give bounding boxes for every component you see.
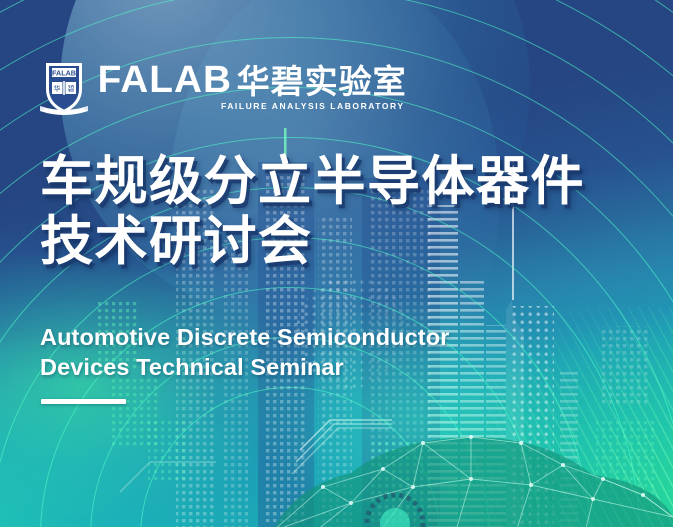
title-line-1: 车规级分立半导体器件 xyxy=(40,152,640,212)
logo-text-block: FALAB 华碧实验室 FAILURE ANALYSIS LABORATORY xyxy=(99,63,407,111)
subtitle-line-1: Automotive Discrete Semiconductor xyxy=(40,322,560,352)
subtitle-line-2: Devices Technical Seminar xyxy=(40,352,560,382)
logo-wordmark: FALAB xyxy=(98,63,232,98)
logo-wordmark-cn: 华碧实验室 xyxy=(237,65,407,98)
title-line-2: 技术研讨会 xyxy=(40,212,640,272)
subtitle: Automotive Discrete Semiconductor Device… xyxy=(40,322,560,382)
page-title: 车规级分立半导体器件 技术研讨会 xyxy=(40,152,640,272)
low-poly-wireframe-car xyxy=(263,391,673,527)
title-divider xyxy=(41,399,126,404)
seminar-poster: FALAB 华 碧 FALAB 华碧实验室 FAILURE ANALYSIS L… xyxy=(0,0,673,527)
svg-text:华: 华 xyxy=(54,84,61,93)
svg-text:碧: 碧 xyxy=(68,84,75,93)
logo-tagline: FAILURE ANALYSIS LABORATORY xyxy=(99,101,407,111)
falab-logo[interactable]: FALAB 华 碧 FALAB 华碧实验室 FAILURE ANALYSIS L… xyxy=(38,57,407,117)
falab-shield-emblem: FALAB 华 碧 xyxy=(38,57,90,117)
svg-text:FALAB: FALAB xyxy=(52,68,76,77)
